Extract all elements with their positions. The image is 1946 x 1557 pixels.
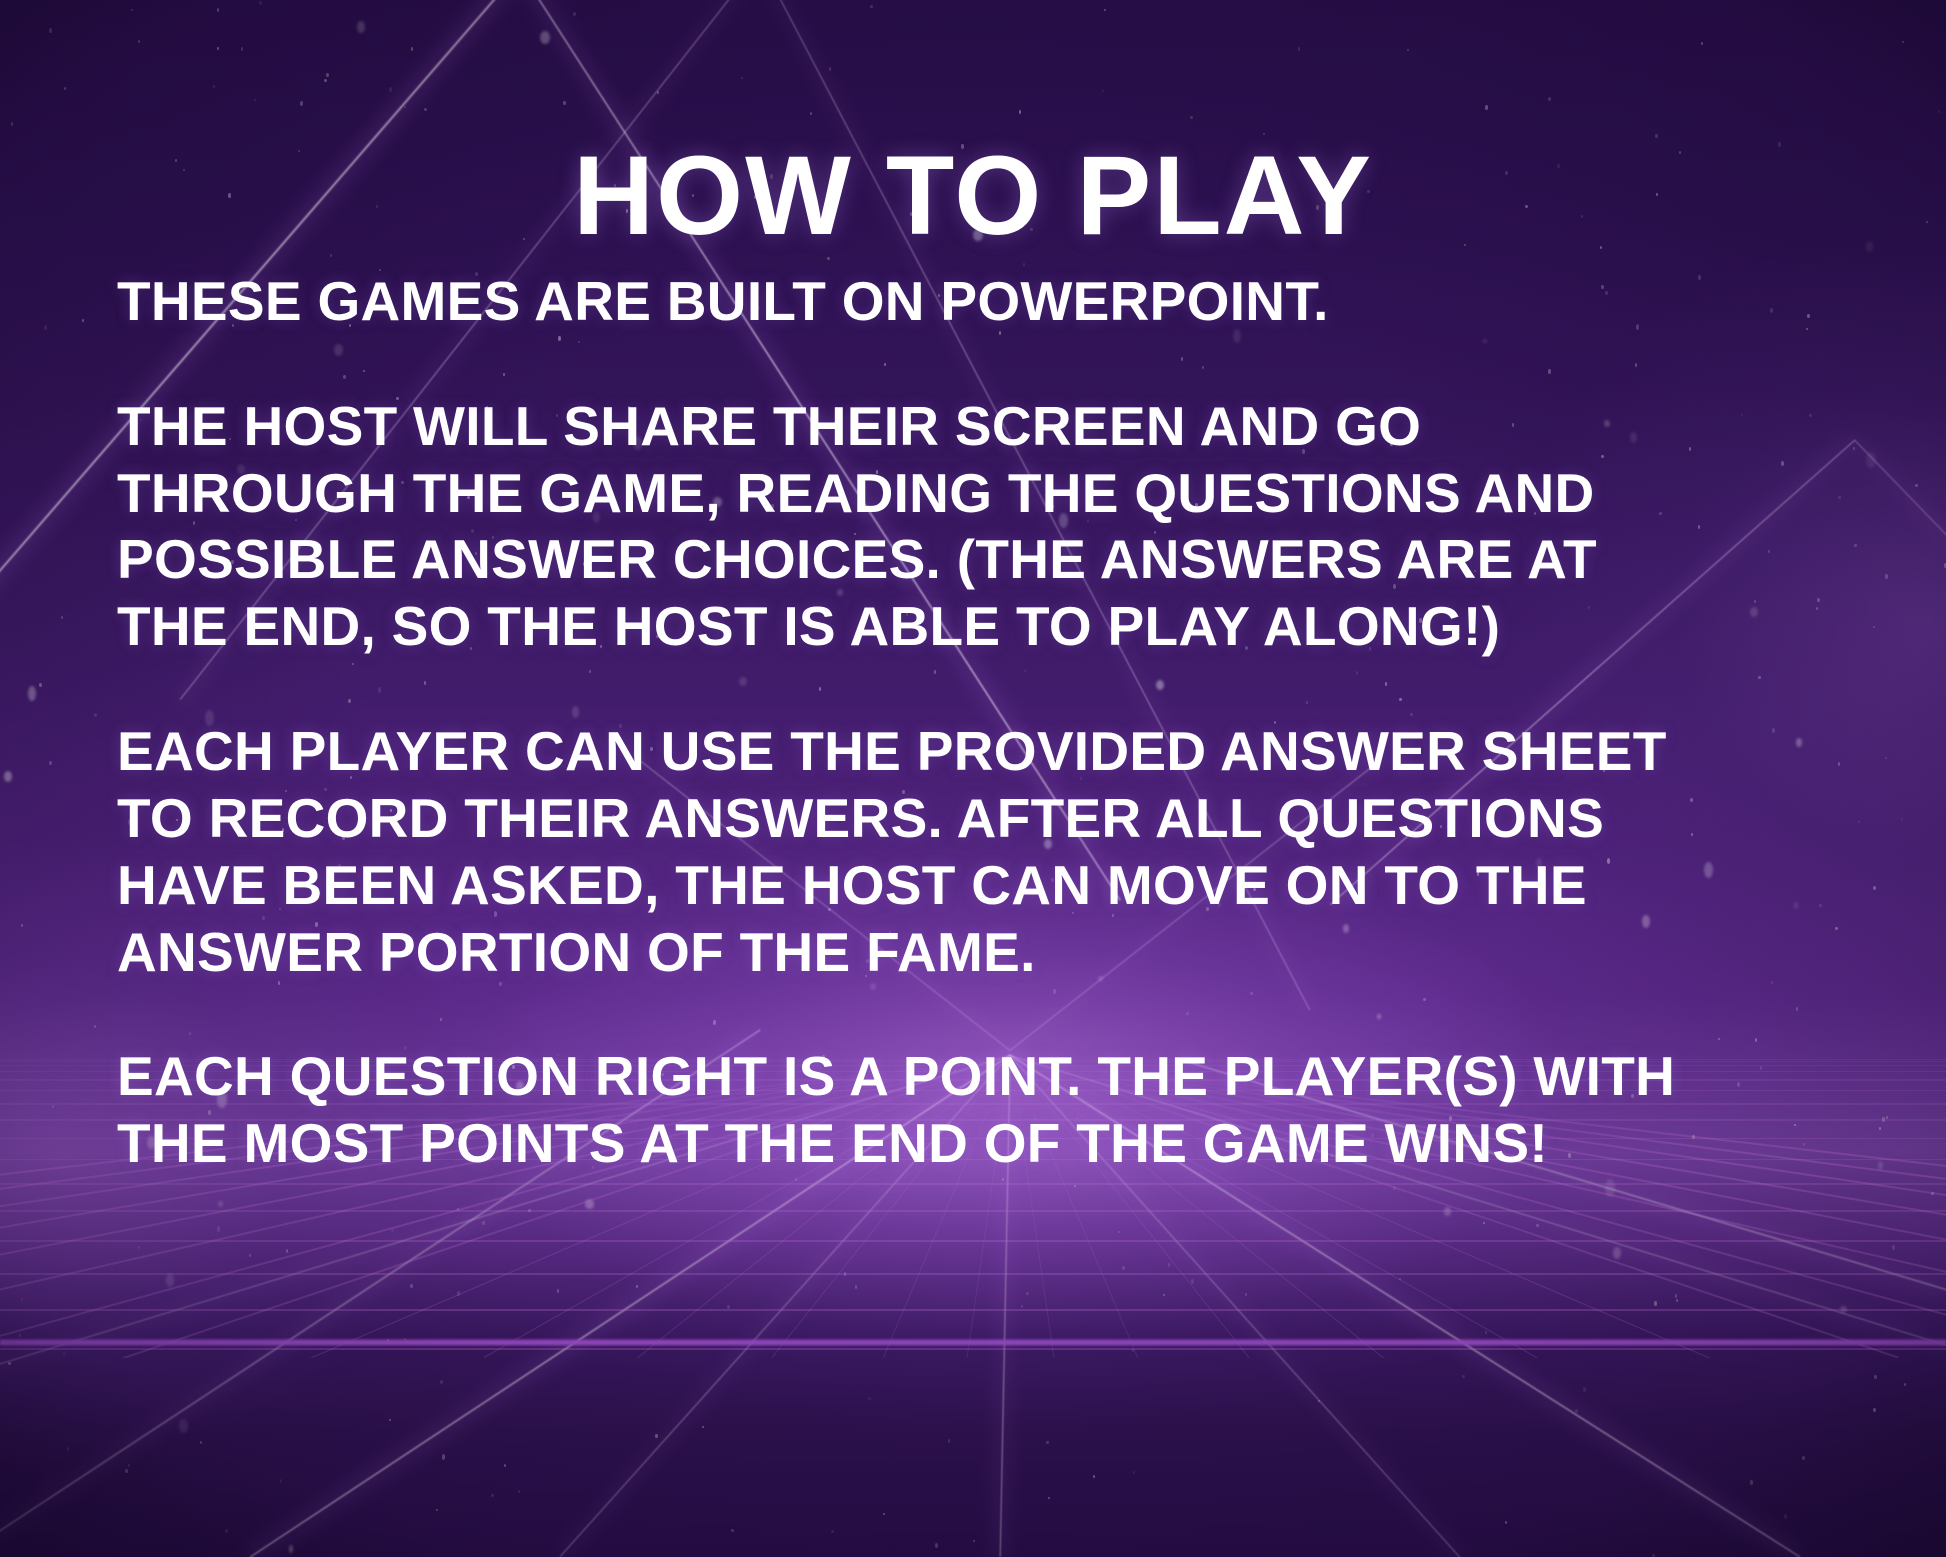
instruction-line: THE MOST POINTS AT THE END OF THE GAME W… <box>117 1110 1886 1177</box>
paragraph-answer-sheet: EACH PLAYER CAN USE THE PROVIDED ANSWER … <box>117 718 1886 985</box>
instruction-line: HAVE BEEN ASKED, THE HOST CAN MOVE ON TO… <box>117 852 1886 919</box>
instruction-line: ANSWER PORTION OF THE FAME. <box>117 919 1886 986</box>
instruction-line: EACH PLAYER CAN USE THE PROVIDED ANSWER … <box>117 718 1886 785</box>
paragraph-powerpoint: THESE GAMES ARE BUILT ON POWERPOINT. <box>117 268 1886 335</box>
paragraph-host-instructions: THE HOST WILL SHARE THEIR SCREEN AND GOT… <box>117 393 1886 660</box>
instruction-line: THE END, SO THE HOST IS ABLE TO PLAY ALO… <box>117 593 1886 660</box>
instruction-line: TO RECORD THEIR ANSWERS. AFTER ALL QUEST… <box>117 785 1886 852</box>
instruction-line: THE HOST WILL SHARE THEIR SCREEN AND GO <box>117 393 1886 460</box>
slide-content: HOW TO PLAY THESE GAMES ARE BUILT ON POW… <box>0 0 1946 1557</box>
instructions-body: THESE GAMES ARE BUILT ON POWERPOINT.THE … <box>117 268 1886 1177</box>
instruction-line: EACH QUESTION RIGHT IS A POINT. THE PLAY… <box>117 1043 1886 1110</box>
instruction-line: THESE GAMES ARE BUILT ON POWERPOINT. <box>117 268 1886 335</box>
instruction-line: THROUGH THE GAME, READING THE QUESTIONS … <box>117 460 1886 527</box>
page-title: HOW TO PLAY <box>0 137 1946 255</box>
how-to-play-slide: HOW TO PLAY THESE GAMES ARE BUILT ON POW… <box>0 0 1946 1557</box>
paragraph-scoring: EACH QUESTION RIGHT IS A POINT. THE PLAY… <box>117 1043 1886 1177</box>
instruction-line: POSSIBLE ANSWER CHOICES. (THE ANSWERS AR… <box>117 526 1886 593</box>
